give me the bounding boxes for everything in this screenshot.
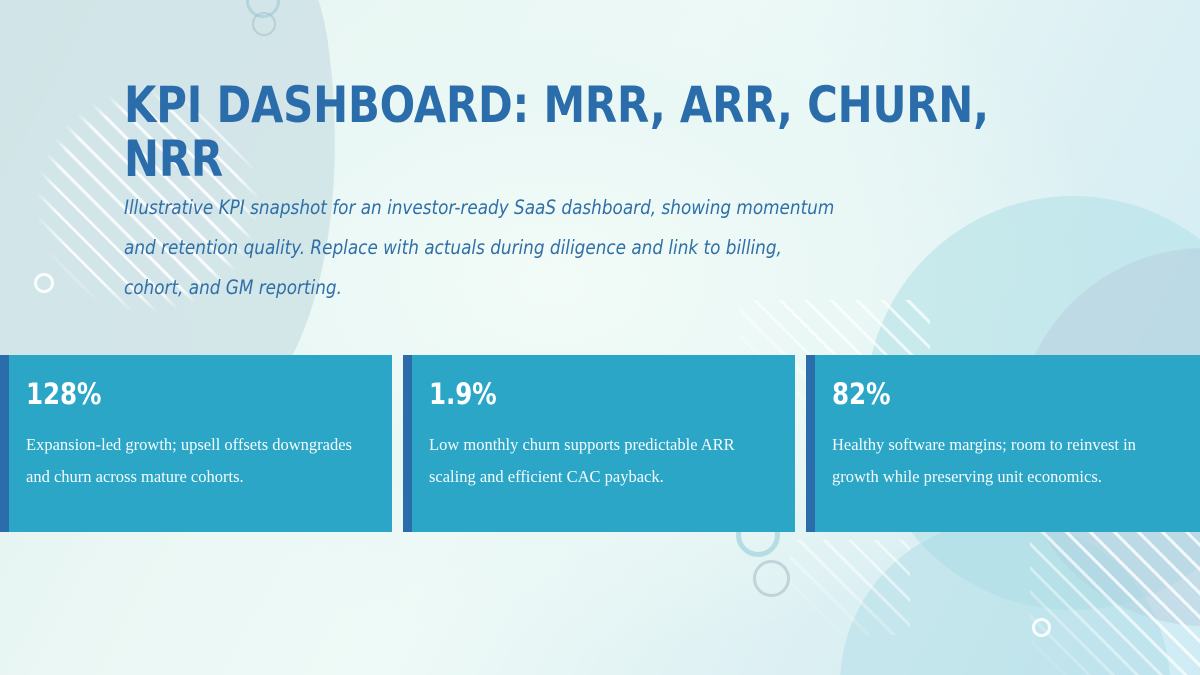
card-divider-one [392,355,403,532]
kpi-value: 1.9% [429,377,749,411]
kpi-description: Low monthly churn supports predictable A… [429,429,769,493]
kpi-card-row: 128% Expansion-led growth; upsell offset… [0,355,1200,532]
card-accent-bar [403,355,412,532]
card-accent-bar [0,355,9,532]
slide: KPI DASHBOARD: MRR, ARR, CHURN, NRR Illu… [0,0,1200,675]
kpi-card-churn: 1.9% Low monthly churn supports predicta… [403,355,795,532]
kpi-description: Expansion-led growth; upsell offsets dow… [26,429,366,493]
page-title: KPI DASHBOARD: MRR, ARR, CHURN, NRR [124,78,1054,186]
kpi-value: 82% [832,377,1153,411]
card-accent-bar [806,355,815,532]
slide-content: KPI DASHBOARD: MRR, ARR, CHURN, NRR Illu… [0,0,1200,675]
slide-subtitle: Illustrative KPI snapshot for an investo… [124,188,834,308]
kpi-card-gross-margin: 82% Healthy software margins; room to re… [806,355,1200,532]
kpi-card-nrr: 128% Expansion-led growth; upsell offset… [0,355,392,532]
kpi-value: 128% [26,377,346,411]
kpi-description: Healthy software margins; room to reinve… [832,429,1162,493]
card-divider-two [795,355,806,532]
